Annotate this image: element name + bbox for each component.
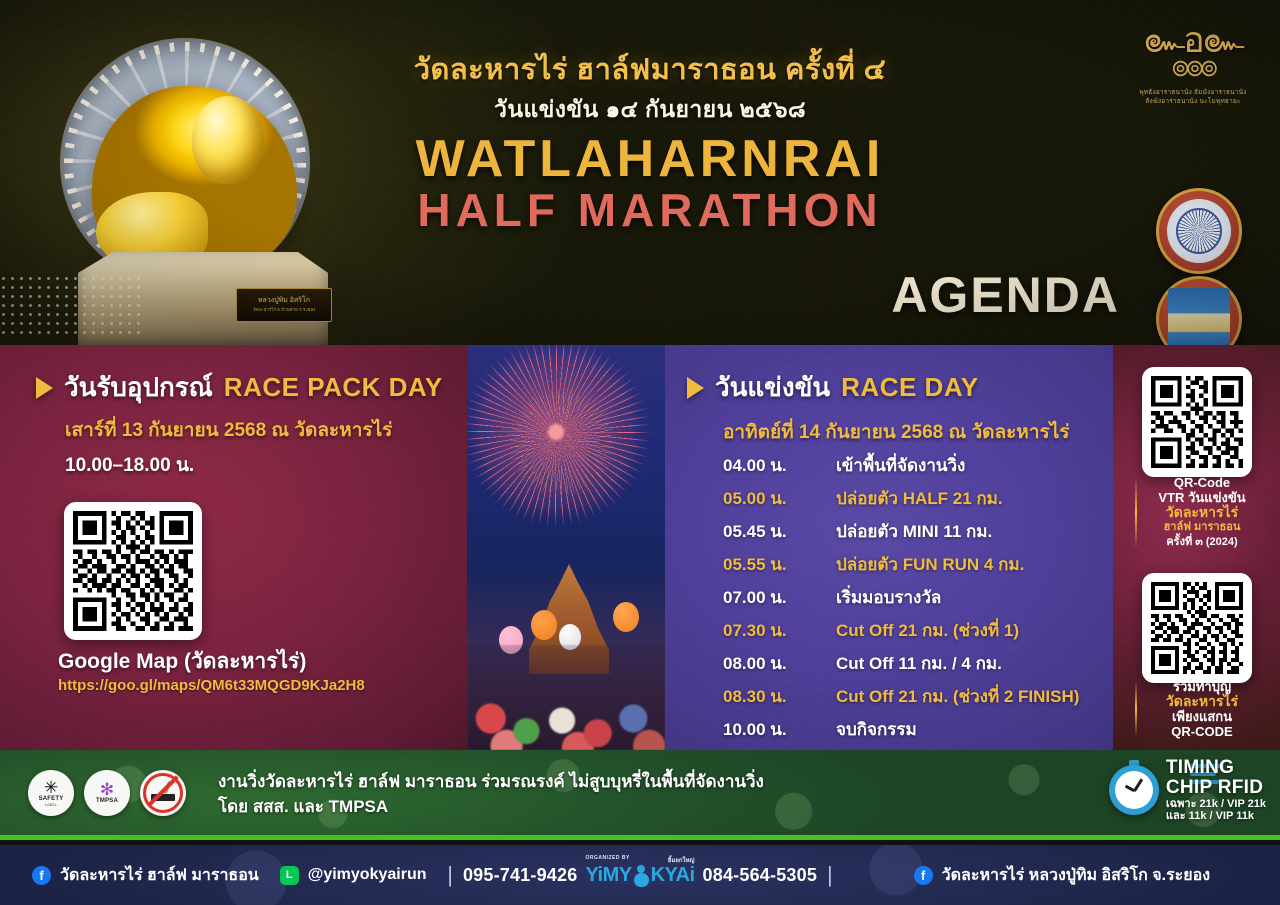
chip-title-2: CHIP RFID — [1166, 778, 1266, 798]
festival-photo — [467, 345, 665, 750]
campaign-band: ✳ SAFETY LABEL ✻ TMPSA งานวิ่งวัดละหารไร… — [0, 750, 1280, 840]
schedule-row: 08.30 น.Cut Off 21 กม. (ช่วงที่ 2 FINISH… — [723, 683, 1113, 710]
no-smoking-icon — [140, 770, 186, 816]
play-triangle-icon — [687, 377, 704, 399]
thai-race-date: วันแข่งขัน ๑๔ กันยายน ๒๕๖๘ — [300, 92, 1000, 128]
chip-sub-2: และ 11k / VIP 11k — [1166, 811, 1266, 823]
page-title: AGENDA — [891, 266, 1120, 324]
separator-left: | — [447, 862, 453, 888]
schedule-time: 08.30 น. — [723, 683, 836, 710]
donation-caption-l2: วัดละหารไร่ — [1143, 694, 1261, 709]
organizer-thai: ยิ้มยกใหญ่ — [668, 855, 695, 865]
schedule-description: Cut Off 21 กม. (ช่วงที่ 2 FINISH) — [836, 683, 1079, 710]
schedule-time: 05.45 น. — [723, 518, 836, 545]
race-pack-heading-en: RACE PACK DAY — [224, 372, 443, 403]
schedule-time: 05.00 น. — [723, 485, 836, 512]
balloon-orange-2 — [613, 602, 639, 632]
facebook-icon[interactable]: f — [32, 866, 51, 885]
vtr-caption-l4: ฮาล์ฟ มาราธอน — [1143, 520, 1261, 535]
race-pack-day-panel: วันรับอุปกรณ์ RACE PACK DAY เสาร์ที่ 13 … — [0, 345, 467, 750]
race-day-date: อาทิตย์ที่ 14 กันยายน 2568 ณ วัดละหารไร่ — [723, 417, 1069, 447]
plaque-line-1: หลวงปู่ทิม อิสริโก — [258, 297, 310, 305]
vtr-caption-l2: VTR วันแข่งขัน — [1143, 490, 1261, 505]
campaign-message: งานวิ่งวัดละหารไร่ ฮาล์ฟ มาราธอน ร่วมรณร… — [218, 769, 764, 819]
schedule-description: จบกิจกรรม — [836, 716, 917, 743]
organizer-mark-body — [634, 873, 649, 887]
campaign-logos: ✳ SAFETY LABEL ✻ TMPSA — [28, 770, 186, 816]
organizer-word-2: KYAi — [651, 864, 695, 887]
schedule-row: 08.00 น.Cut Off 11 กม. / 4 กม. — [723, 650, 1113, 677]
stopwatch-icon — [1109, 765, 1159, 815]
vtr-caption-l1: QR-Code — [1143, 475, 1261, 490]
vtr-caption-l3: วัดละหารไร่ — [1143, 505, 1261, 520]
race-day-heading-th: วันแข่งขัน — [715, 367, 830, 408]
safety-logo-sub: LABEL — [45, 802, 57, 807]
facebook-page-name[interactable]: วัดละหารไร่ ฮาล์ฟ มาราธอน — [60, 863, 259, 888]
tmpsa-logo-icon: ✻ TMPSA — [84, 770, 130, 816]
statue-plaque: หลวงปู่ทิม อิสริโก วัดละหารไร่ อ.บ้านค่า… — [236, 288, 332, 322]
vtr-caption-l5: ครั้งที่ ๓ (2024) — [1143, 535, 1261, 550]
asahna-seal-inner — [1168, 288, 1230, 350]
separator-right: | — [827, 862, 833, 888]
vtr-qr-card[interactable] — [1142, 367, 1252, 477]
schedule-description: เริ่มมอบรางวัล — [836, 584, 941, 611]
race-pack-time: 10.00–18.00 น. — [65, 450, 194, 480]
tmpsa-star-glyph: ✻ — [100, 782, 114, 798]
facebook-icon[interactable]: f — [914, 866, 933, 885]
hero-banner: หลวงปู่ทิม อิสริโก วัดละหารไร่ อ.บ้านค่า… — [0, 0, 1280, 345]
race-day-heading-en: RACE DAY — [841, 372, 978, 403]
race-pack-heading-th: วันรับอุปกรณ์ — [64, 367, 213, 408]
schedule-description: เข้าพื้นที่จัดงานวิ่ง — [836, 452, 965, 479]
chip-title-1: TIMING — [1166, 758, 1266, 778]
google-map-title: Google Map (วัดละหารไร่) — [58, 645, 306, 678]
campaign-message-line1: งานวิ่งวัดละหารไร่ ฮาล์ฟ มาราธอน ร่วมรณร… — [218, 769, 764, 794]
footer-social-left: f วัดละหารไร่ ฮาล์ฟ มาราธอน L @yimyokyai… — [32, 863, 427, 888]
donation-qr-card[interactable] — [1142, 573, 1252, 683]
qr-sidebar-panel: QR-Code VTR วันแข่งขัน วัดละหารไร่ ฮาล์ฟ… — [1113, 345, 1280, 750]
campaign-message-line2: โดย สสส. และ TMPSA — [218, 794, 764, 819]
timing-chip-badge: TIMING CHIP RFID เฉพาะ 21k / VIP 21k และ… — [1109, 758, 1266, 823]
schedule-time: 10.00 น. — [723, 716, 836, 743]
plaque-line-2: วัดละหารไร่ อ.บ้านค่าย จ.ระยอง — [253, 306, 316, 314]
poster-root: หลวงปู่ทิม อิสริโก วัดละหารไร่ อ.บ้านค่า… — [0, 0, 1280, 905]
title-block: วัดละหารไร่ ฮาล์ฟมาราธอน ครั้งที่ ๔ วันแ… — [300, 52, 1000, 233]
footer-bar: f วัดละหารไร่ ฮาล์ฟ มาราธอน L @yimyokyai… — [0, 845, 1280, 905]
balloon-orange-1 — [531, 610, 557, 640]
monk-statue-head — [192, 96, 264, 184]
schedule-row: 07.30 น.Cut Off 21 กม. (ช่วงที่ 1) — [723, 617, 1113, 644]
timing-chip-text: TIMING CHIP RFID เฉพาะ 21k / VIP 21k และ… — [1166, 758, 1266, 823]
english-title-line2: HALF MARATHON — [300, 187, 1000, 233]
chip-sub-1: เฉพาะ 21k / VIP 21k — [1166, 799, 1266, 811]
google-map-qr-icon[interactable] — [73, 511, 193, 631]
organizer-kicker: ORGANIZED BY — [585, 855, 629, 861]
organizer-word-1: YiMY — [585, 864, 631, 887]
play-triangle-icon — [36, 377, 53, 399]
organizer-mark-head — [637, 865, 645, 873]
schedule-time: 04.00 น. — [723, 452, 836, 479]
schedule-row: 05.55 น.ปล่อยตัว FUN RUN 4 กม. — [723, 551, 1113, 578]
temple-seal-icon — [1156, 188, 1242, 274]
race-pack-heading: วันรับอุปกรณ์ RACE PACK DAY — [36, 367, 443, 408]
yantra-emblem: ๛อ๛ ๏๏๏ พุทธังอาราธนานัง ธัมมังอาราธนานั… — [1134, 22, 1252, 106]
race-pack-date: เสาร์ที่ 13 กันยายน 2568 ณ วัดละหารไร่ — [65, 415, 392, 445]
fireworks-burst-secondary — [507, 387, 617, 497]
organizer-mark-icon — [634, 865, 649, 887]
footer-social-right: f วัดละหารไร่ หลวงปู่ทิม อิสริโก จ.ระยอง — [914, 863, 1210, 888]
schedule-description: Cut Off 11 กม. / 4 กม. — [836, 650, 1002, 677]
schedule-time: 05.55 น. — [723, 551, 836, 578]
schedule-row: 10.00 น.จบกิจกรรม — [723, 716, 1113, 743]
schedule-time: 07.00 น. — [723, 584, 836, 611]
donation-caption-l4: QR-CODE — [1143, 724, 1261, 739]
schedule-row: 05.45 น.ปล่อยตัว MINI 11 กม. — [723, 518, 1113, 545]
vtr-video-qr-icon[interactable] — [1151, 376, 1243, 468]
schedule-row: 05.00 น.ปล่อยตัว HALF 21 กม. — [723, 485, 1113, 512]
schedule-row: 07.00 น.เริ่มมอบรางวัล — [723, 584, 1113, 611]
line-id[interactable]: @yimyokyairun — [308, 866, 427, 884]
schedule-time: 08.00 น. — [723, 650, 836, 677]
donation-caption-l3: เพียงแสกน — [1143, 709, 1261, 724]
temple-seal-ring — [1176, 208, 1222, 254]
schedule-row: 04.00 น.เข้าพื้นที่จัดงานวิ่ง — [723, 452, 1113, 479]
organizer-logo[interactable]: ORGANIZED BY ยิ้มยกใหญ่ YiMY KYAi — [585, 864, 694, 887]
tmpsa-logo-label: TMPSA — [96, 798, 118, 804]
race-day-schedule: 04.00 น.เข้าพื้นที่จัดงานวิ่ง05.00 น.ปล่… — [723, 452, 1113, 749]
temple-seal-inner — [1167, 199, 1231, 263]
thai-event-title: วัดละหารไร่ ฮาล์ฟมาราธอน ครั้งที่ ๔ — [300, 52, 1000, 88]
google-map-qr-card[interactable] — [64, 502, 202, 640]
donation-caption-l1: ร่วมทำบุญ — [1143, 679, 1261, 694]
yantra-caption: พุทธังอาราธนานัง ธัมมังอาราธนานัง สังฆัง… — [1134, 88, 1252, 106]
schedule-description: ปล่อยตัว FUN RUN 4 กม. — [836, 551, 1024, 578]
phone-number-1[interactable]: 095-741-9426 — [463, 865, 578, 886]
race-day-heading: วันแข่งขัน RACE DAY — [687, 367, 979, 408]
schedule-description: ปล่อยตัว HALF 21 กม. — [836, 485, 1003, 512]
halftone-dots — [0, 274, 140, 340]
facebook-page-name-2[interactable]: วัดละหารไร่ หลวงปู่ทิม อิสริโก จ.ระยอง — [942, 863, 1210, 888]
google-map-url[interactable]: https://goo.gl/maps/QM6t33MQGD9KJa2H8 — [58, 677, 365, 694]
thai-health-safety-logo-icon: ✳ SAFETY LABEL — [28, 770, 74, 816]
schedule-description: ปล่อยตัว MINI 11 กม. — [836, 518, 992, 545]
donation-qr-caption: ร่วมทำบุญ วัดละหารไร่ เพียงแสกน QR-CODE — [1135, 679, 1261, 739]
crowd-silhouette — [467, 645, 665, 750]
safety-star-glyph: ✳ — [44, 780, 58, 796]
footer-contact-center: | 095-741-9426 ORGANIZED BY ยิ้มยกใหญ่ Y… — [437, 862, 843, 888]
vtr-qr-caption: QR-Code VTR วันแข่งขัน วัดละหารไร่ ฮาล์ฟ… — [1135, 475, 1261, 550]
donation-qr-icon[interactable] — [1151, 582, 1243, 674]
phone-number-2[interactable]: 084-564-5305 — [703, 865, 818, 886]
english-title-line1: WATLAHARNRAI — [300, 134, 1000, 185]
schedule-time: 07.30 น. — [723, 617, 836, 644]
schedule-description: Cut Off 21 กม. (ช่วงที่ 1) — [836, 617, 1019, 644]
line-icon[interactable]: L — [280, 866, 299, 885]
